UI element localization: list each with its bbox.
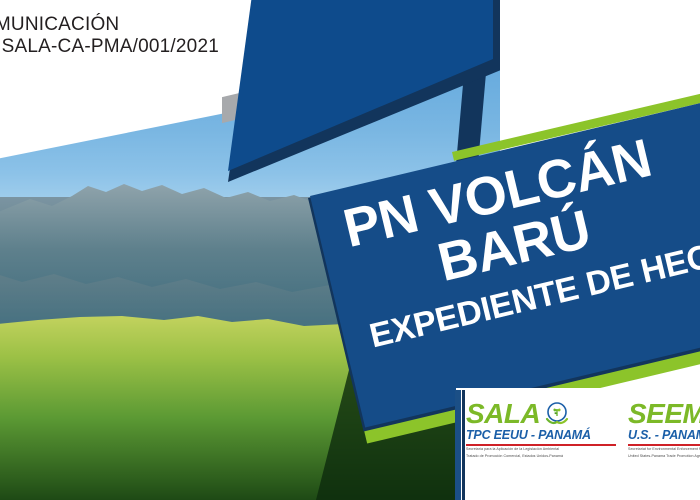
- cover-slide: COMUNICACIÓN No. SALA-CA-PMA/001/2021 PN…: [0, 0, 700, 500]
- logo-seem-subtitle: U.S. - PANAMÁ: [628, 429, 700, 442]
- panel-left-rule: [455, 390, 461, 500]
- logo-sala-fine-1: Secretaría para la Aplicación de la Legi…: [466, 447, 616, 452]
- logo-seem-fine-1: Secretariat for Environmental Enforcemen…: [628, 447, 700, 452]
- logo-sala-subtitle: TPC EEUU - PANAMÁ: [466, 429, 616, 442]
- plant-in-hands-icon: [544, 401, 570, 427]
- logo-seem: SEEM U.S. - PANAMÁ Secretariat for Envir…: [628, 400, 700, 459]
- logo-seem-main: SEEM: [628, 400, 700, 428]
- communication-number: No. SALA-CA-PMA/001/2021: [0, 36, 219, 58]
- communication-label: COMUNICACIÓN: [0, 14, 219, 36]
- logo-sala-word: SALA: [466, 400, 540, 428]
- logo-seem-rule: [628, 444, 700, 446]
- panel-left-rule-dark: [462, 390, 465, 500]
- logo-seem-word: SEEM: [628, 400, 700, 428]
- header-block: COMUNICACIÓN No. SALA-CA-PMA/001/2021: [0, 14, 219, 59]
- logo-seem-fine-2: United States-Panama Trade Promotion Agr…: [628, 454, 700, 459]
- logo-sala-fine-2: Tratado de Promoción Comercial, Estados …: [466, 454, 616, 459]
- logo-sala-main: SALA: [466, 400, 616, 428]
- logo-sala: SALA TPC EEUU - PANAMÁ Secretaría para l…: [466, 400, 616, 459]
- logo-panel: SALA TPC EEUU - PANAMÁ Secretaría para l…: [456, 388, 700, 500]
- logo-sala-rule: [466, 444, 616, 446]
